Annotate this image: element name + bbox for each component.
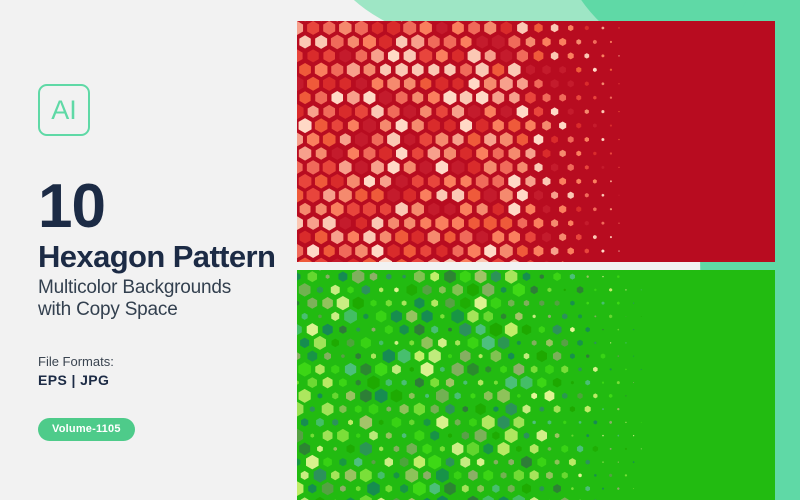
adobe-illustrator-icon: AI (38, 84, 90, 136)
volume-badge: Volume-1105 (38, 418, 135, 441)
item-count: 10 (38, 178, 288, 235)
green-hexagon-canvas (297, 270, 775, 500)
info-column: AI 10 Hexagon Pattern Multicolor Backgro… (38, 84, 288, 441)
preview-green-hexagon-pattern (297, 270, 775, 500)
page-subtitle-line-2: with Copy Space (38, 299, 288, 321)
page-title: Hexagon Pattern (38, 241, 288, 274)
page-subtitle-line-1: Multicolor Backgrounds (38, 277, 288, 299)
file-formats-value: EPS | JPG (38, 372, 288, 388)
poster-canvas: AI 10 Hexagon Pattern Multicolor Backgro… (0, 0, 800, 500)
file-formats-label: File Formats: (38, 354, 288, 369)
ai-badge-label: AI (51, 95, 77, 126)
page-subtitle: Multicolor Backgrounds with Copy Space (38, 277, 288, 322)
red-hexagon-canvas (297, 21, 775, 262)
preview-red-hexagon-pattern (297, 21, 775, 262)
